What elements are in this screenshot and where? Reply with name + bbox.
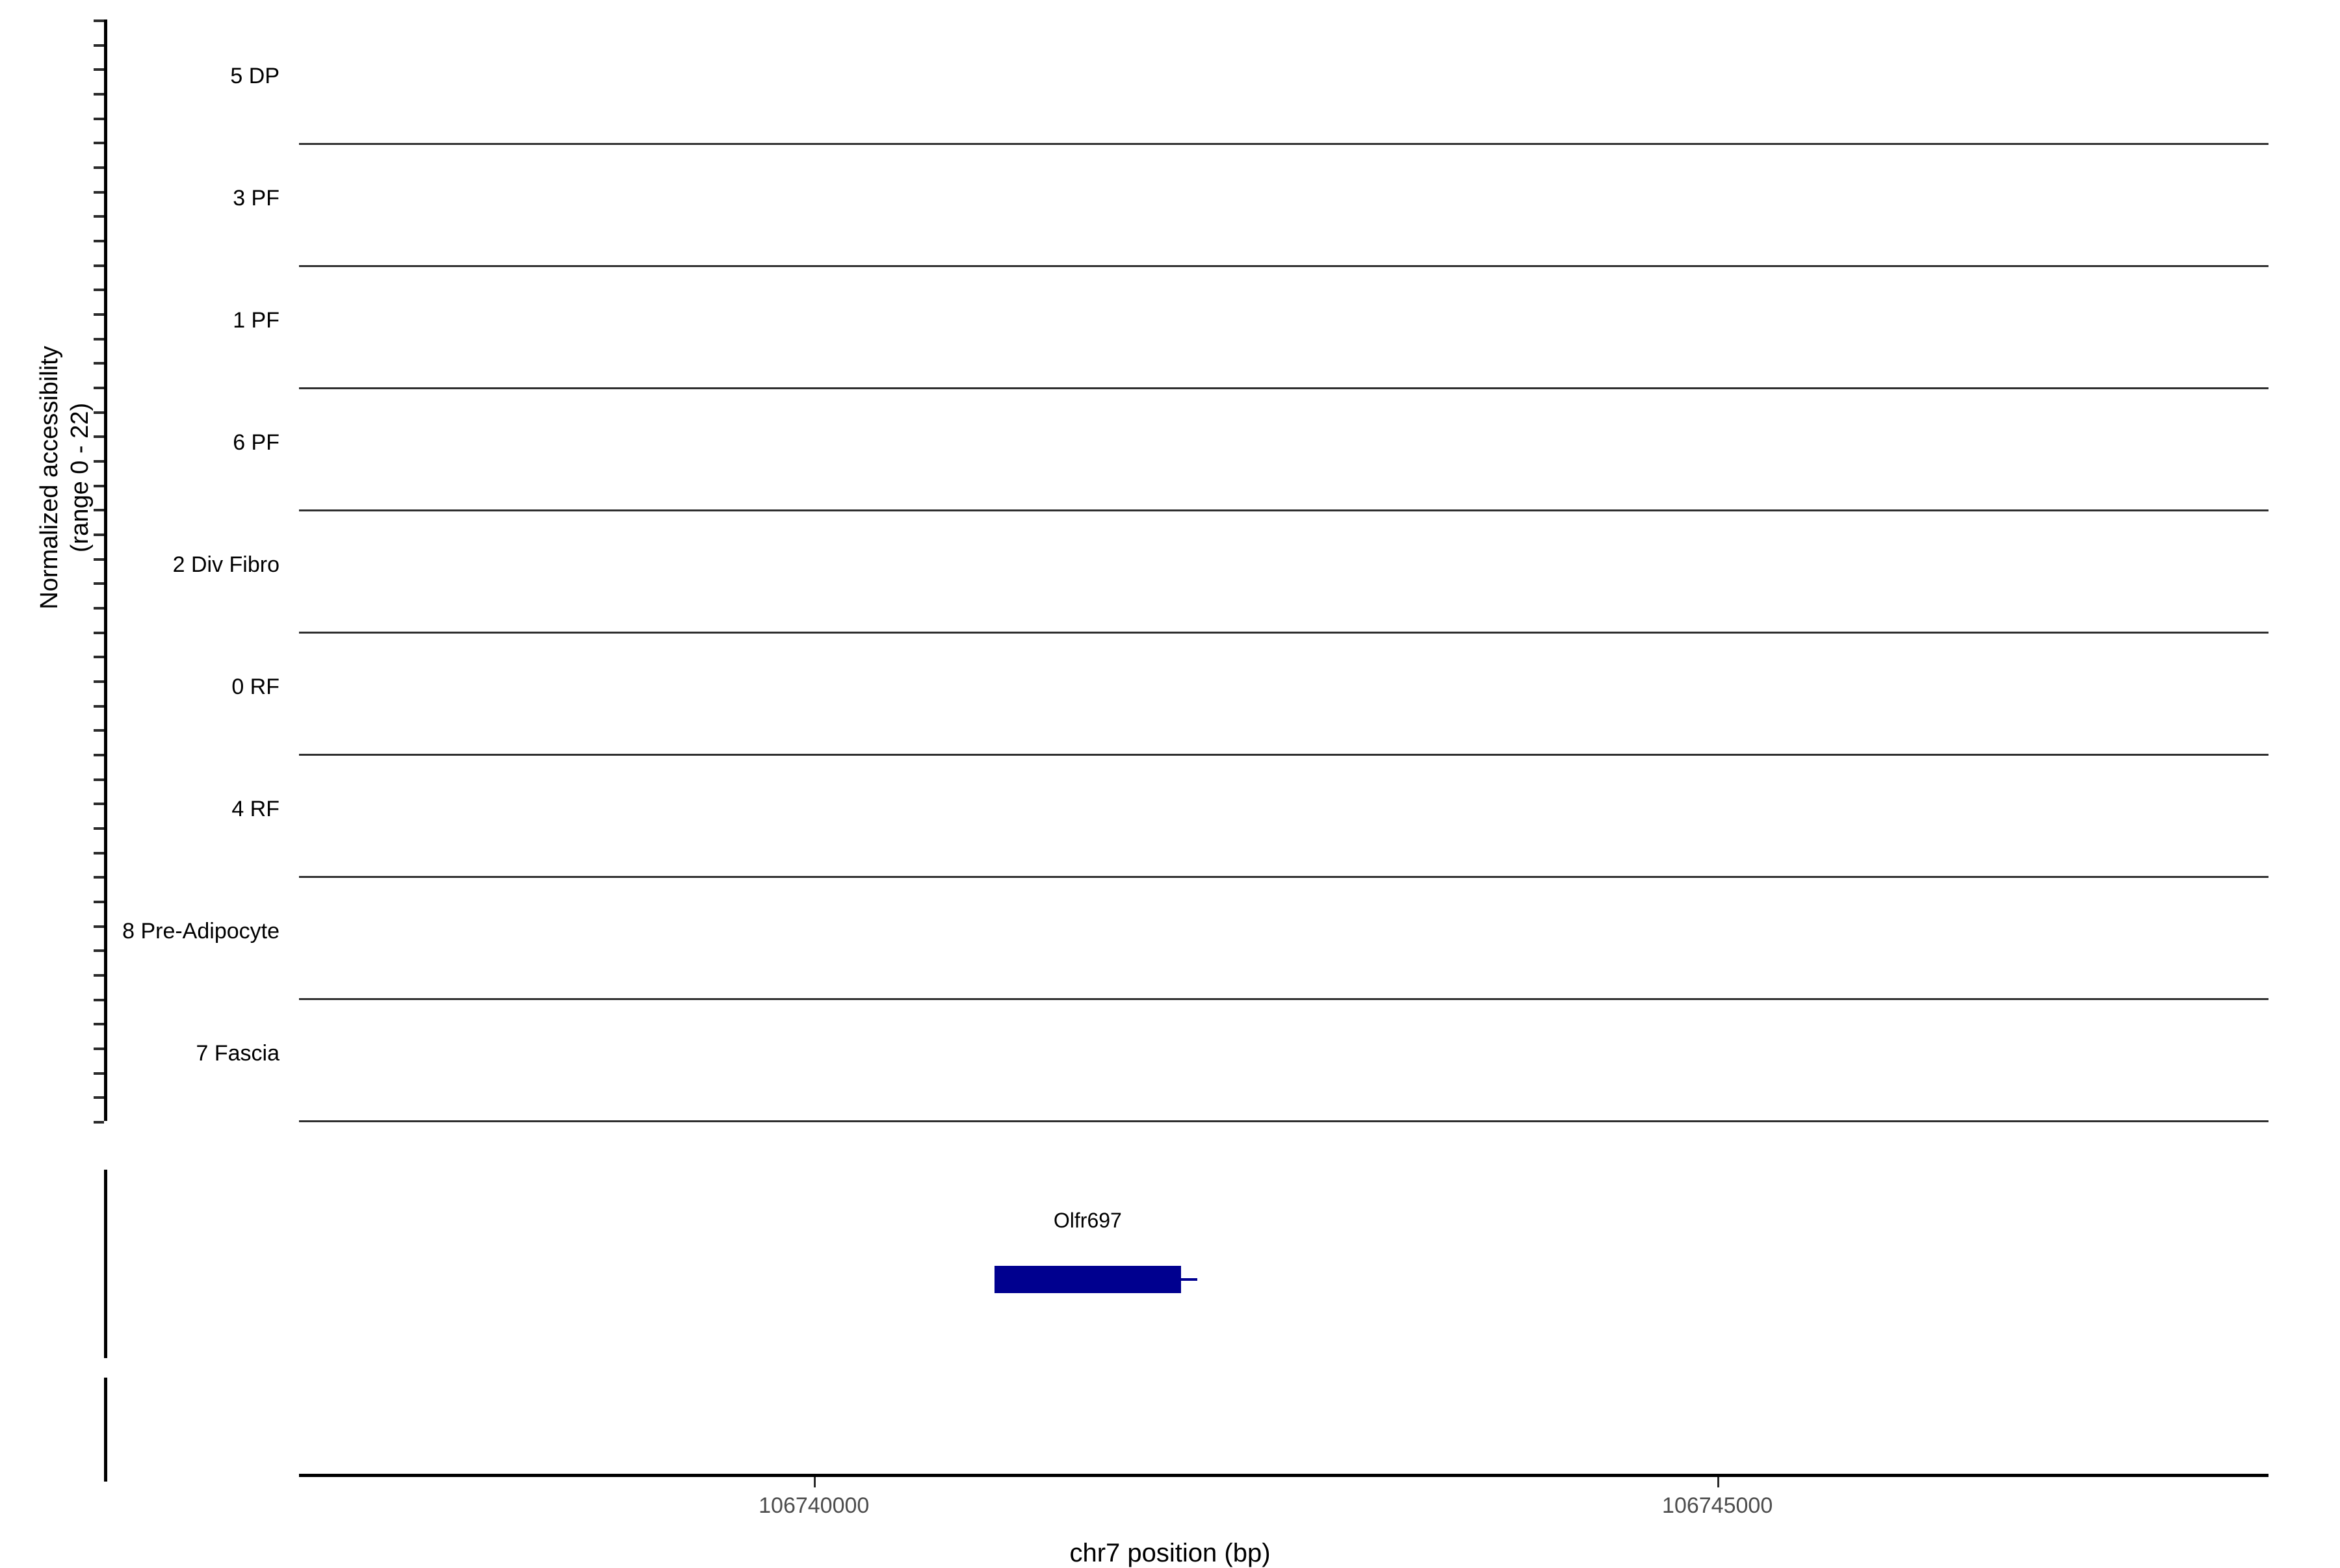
coverage-peak xyxy=(1819,602,1837,632)
coverage-peak xyxy=(357,735,369,754)
coverage-peak xyxy=(850,498,877,509)
y-axis-tick xyxy=(94,754,104,756)
coverage-peak xyxy=(1772,235,1783,265)
track-label-7-fascia: 7 Fascia xyxy=(0,1041,279,1066)
coverage-peak xyxy=(742,864,774,876)
coverage-peak xyxy=(1734,497,1764,509)
coverage-peak xyxy=(959,864,986,876)
y-axis-tick xyxy=(94,411,104,414)
coverage-peak xyxy=(579,131,626,143)
track-baseline xyxy=(299,265,2268,267)
coverage-peak xyxy=(1582,496,1611,509)
coverage-peak xyxy=(1396,231,1410,265)
y-axis-tick xyxy=(94,925,104,928)
coverage-peak xyxy=(1699,600,1715,632)
coverage-peak xyxy=(666,862,693,876)
y-axis-tick xyxy=(94,118,104,120)
y-axis-tick xyxy=(94,1096,104,1099)
coverage-peak xyxy=(1273,848,1287,876)
y-axis-tick xyxy=(94,1072,104,1075)
coverage-peak xyxy=(1992,599,2008,632)
track-baseline xyxy=(299,632,2268,634)
track-label-3-pf: 3 PF xyxy=(0,186,279,211)
y-axis-tick xyxy=(94,827,104,830)
coverage-peak xyxy=(814,359,834,387)
coverage-peak xyxy=(2010,255,2046,265)
coverage-peak xyxy=(1747,617,1779,632)
x-axis-tick xyxy=(1717,1477,1719,1487)
coverage-peak xyxy=(1789,1083,1802,1120)
coverage-peak xyxy=(1450,371,1501,387)
coverage-peak xyxy=(2043,732,2057,754)
track-baseline xyxy=(299,754,2268,756)
coverage-peak xyxy=(1768,1080,1780,1120)
coverage-peak xyxy=(1407,359,1425,387)
track-label-5-dp: 5 DP xyxy=(0,64,279,89)
y-axis-tick xyxy=(94,142,104,144)
y-axis-tick xyxy=(94,19,104,22)
coverage-peak xyxy=(702,618,736,632)
coverage-peak xyxy=(1013,619,1061,632)
y-axis-tick xyxy=(94,729,104,732)
coverage-peak xyxy=(1221,133,1248,143)
y-axis-tick xyxy=(94,289,104,291)
coverage-peak xyxy=(814,1104,841,1120)
y-axis-tick xyxy=(94,264,104,267)
track-baseline xyxy=(299,998,2268,1000)
coverage-peak xyxy=(868,1101,897,1120)
y-axis-tick xyxy=(94,387,104,389)
coverage-peak xyxy=(586,350,617,387)
y-axis-tick xyxy=(94,607,104,610)
coverage-peak xyxy=(1518,867,1546,876)
coverage-peak xyxy=(1750,249,1791,265)
y-axis-tick xyxy=(94,509,104,511)
coverage-peak xyxy=(2028,124,2060,143)
coverage-peak xyxy=(664,246,677,265)
coverage-peak xyxy=(1043,450,1065,509)
coverage-peak xyxy=(1396,864,1432,876)
coverage-peak xyxy=(1649,129,1685,143)
coverage-peak xyxy=(373,134,384,143)
track-label-4-rf: 4 RF xyxy=(0,797,279,822)
coverage-peak xyxy=(2104,376,2133,387)
coverage-peak xyxy=(1432,361,1450,387)
coverage-peak xyxy=(1909,498,1932,509)
coverage-peak xyxy=(498,357,512,387)
coverage-peak xyxy=(651,500,684,509)
coverage-peak xyxy=(2043,620,2073,632)
coverage-peak xyxy=(1149,578,1170,632)
coverage-peak xyxy=(1775,867,1802,876)
coverage-peak xyxy=(1049,946,1072,998)
coverage-peak xyxy=(1714,946,1735,998)
coverage-peak xyxy=(398,114,408,143)
coverage-peak xyxy=(1609,744,1637,754)
coverage-peak xyxy=(2122,945,2146,998)
coverage-peak xyxy=(850,945,883,998)
coverage-peak xyxy=(1923,1113,1952,1120)
coverage-peak xyxy=(1732,357,1743,387)
coverage-peak xyxy=(1110,355,1130,387)
track-baseline xyxy=(299,1120,2268,1122)
coverage-peak xyxy=(603,118,619,143)
coverage-peak xyxy=(1154,738,1186,754)
y-axis-tick xyxy=(94,803,104,805)
coverage-peak xyxy=(825,853,839,876)
coverage-peak xyxy=(1529,743,1560,754)
coverage-peak xyxy=(1217,503,1256,509)
coverage-peak xyxy=(796,621,824,632)
coverage-peak xyxy=(1708,368,1753,387)
coverage-peak xyxy=(384,613,400,632)
coverage-peak xyxy=(886,89,920,143)
y-axis-tick xyxy=(94,44,104,47)
y-axis-tick xyxy=(94,778,104,781)
coverage-peak xyxy=(1867,945,1891,998)
coverage-peak xyxy=(1988,353,2008,387)
coverage-peak xyxy=(2205,475,2216,509)
genes-axis-spine xyxy=(104,1170,107,1358)
y-axis-tick xyxy=(94,93,104,96)
track-baseline xyxy=(299,876,2268,878)
coverage-peak xyxy=(575,487,586,509)
coverage-peak xyxy=(1564,608,1580,632)
y-axis-tick xyxy=(94,435,104,438)
coverage-peak xyxy=(1094,945,1119,998)
coverage-peak xyxy=(1772,735,1786,754)
track-label-8-pre-adipocyte: 8 Pre-Adipocyte xyxy=(0,919,279,944)
coverage-peak xyxy=(2180,744,2213,754)
coverage-peak xyxy=(1840,861,1877,876)
y-axis-tick xyxy=(94,632,104,634)
y-axis-tick xyxy=(94,949,104,952)
track-baseline xyxy=(299,387,2268,389)
coverage-peak xyxy=(1761,495,1777,509)
coverage-peak xyxy=(1750,945,1773,998)
x-axis-tick-label: 106745000 xyxy=(1662,1493,1773,1519)
coverage-peak xyxy=(944,244,958,265)
coverage-peak xyxy=(637,136,658,143)
coverage-peak xyxy=(331,138,348,143)
x-axis-tick-label: 106740000 xyxy=(759,1493,869,1519)
y-axis-tick xyxy=(94,460,104,463)
coverage-peak xyxy=(623,716,639,754)
y-axis-tick xyxy=(94,338,104,341)
y-axis-tick xyxy=(94,215,104,218)
coverage-peak xyxy=(1587,865,1616,876)
coverage-peak xyxy=(1067,128,1099,143)
coverage-peak xyxy=(994,356,1015,387)
track-label-0-rf: 0 RF xyxy=(0,675,279,700)
y-axis-tick xyxy=(94,485,104,487)
coverage-peak xyxy=(510,138,521,143)
coverage-peak xyxy=(1609,374,1637,387)
y-axis-tick xyxy=(94,1121,104,1124)
coverage-peak xyxy=(1956,834,1983,876)
track-baseline xyxy=(299,143,2268,145)
y-axis-tick xyxy=(94,901,104,903)
y-axis-tick xyxy=(94,240,104,242)
coverage-peak xyxy=(926,115,954,143)
coverage-peak xyxy=(1822,914,1840,998)
coverage-peak xyxy=(1645,945,1692,998)
y-axis-tick xyxy=(94,166,104,169)
coverage-peak xyxy=(1638,253,1680,265)
coverage-peak xyxy=(1132,437,1148,509)
track-label-2-div-fibro: 2 Div Fibro xyxy=(0,552,279,578)
coverage-peak xyxy=(2106,129,2133,143)
coverage-peak xyxy=(579,251,606,265)
coverage-peak xyxy=(1071,865,1099,876)
coverage-peak xyxy=(1011,446,1027,509)
coverage-peak xyxy=(503,498,519,509)
coverage-peak xyxy=(1013,1105,1040,1120)
coverage-peak xyxy=(734,495,758,509)
y-axis-tick xyxy=(94,362,104,365)
coverage-peak xyxy=(1995,853,2028,876)
y-axis-tick xyxy=(94,558,104,561)
y-axis-tick xyxy=(94,852,104,855)
y-axis-tick xyxy=(94,974,104,977)
coverage-peak xyxy=(1078,490,1094,509)
gene-body-rect[interactable] xyxy=(994,1266,1180,1293)
coverage-peak xyxy=(872,622,899,632)
coverage-peak xyxy=(1826,742,1860,754)
coverage-peak xyxy=(1121,734,1136,754)
y-axis-tick xyxy=(94,533,104,536)
coverage-peak xyxy=(492,742,525,754)
coverage-peak xyxy=(1793,373,1830,387)
coverage-peak xyxy=(434,122,447,143)
coverage-peak xyxy=(2166,945,2189,998)
coverage-peak xyxy=(1150,96,1168,143)
coverage-peak xyxy=(698,706,721,754)
coverage-peak xyxy=(1835,107,1855,143)
y-axis-tick xyxy=(94,876,104,879)
track-label-6-pf: 6 PF xyxy=(0,430,279,456)
coverage-peak xyxy=(498,619,528,632)
coverage-peak xyxy=(1147,847,1161,876)
coverage-peak xyxy=(2118,856,2155,876)
coverage-peak xyxy=(801,725,816,754)
x-axis-tick xyxy=(814,1477,816,1487)
y-axis-tick xyxy=(94,656,104,658)
y-axis-tick xyxy=(94,705,104,708)
coverage-peak xyxy=(1107,231,1118,265)
coverage-peak xyxy=(554,373,582,387)
y-axis-tick xyxy=(94,999,104,1001)
coverage-peak xyxy=(994,251,1039,265)
coverage-peak xyxy=(1277,745,1313,754)
coverage-peak xyxy=(1401,730,1418,754)
coverage-peak xyxy=(1107,608,1118,632)
coverage-peak xyxy=(380,851,395,876)
coverage-peak xyxy=(2068,864,2095,876)
coverage-peak xyxy=(1654,745,1682,754)
coverage-peak xyxy=(718,131,755,143)
coverage-peak xyxy=(1875,235,1896,265)
coverage-peak xyxy=(1527,114,1548,143)
coverage-peak xyxy=(1439,618,1472,632)
x-axis-title: chr7 position (bp) xyxy=(0,1539,2340,1568)
coverage-peak xyxy=(1379,606,1397,632)
coverage-peak xyxy=(593,613,615,632)
x-axis-line xyxy=(299,1474,2268,1477)
coverage-peak xyxy=(1880,496,1908,509)
coverage-peak xyxy=(1059,371,1090,387)
peaks-axis-spine xyxy=(104,1378,107,1482)
y-axis-tick xyxy=(94,680,104,683)
coverage-peak xyxy=(994,738,1029,754)
coverage-peak xyxy=(1334,946,1365,998)
coverage-peak xyxy=(2100,254,2135,265)
coverage-peak xyxy=(1705,865,1735,876)
coverage-peak xyxy=(642,378,668,387)
coverage-peak xyxy=(2198,859,2226,876)
coverage-peak xyxy=(426,481,437,509)
coverage-peak xyxy=(1139,1069,1150,1120)
coverage-peak xyxy=(566,731,590,754)
coverage-peak xyxy=(1501,618,1535,632)
coverage-peak xyxy=(1410,129,1450,143)
track-baseline xyxy=(299,509,2268,511)
coverage-peak xyxy=(1865,615,1919,632)
coverage-peak xyxy=(1916,745,1945,754)
coverage-peak xyxy=(929,355,948,387)
coverage-peak xyxy=(879,852,891,876)
coverage-peak xyxy=(1916,617,1956,632)
coverage-peak xyxy=(449,731,469,754)
coverage-peak xyxy=(778,132,805,143)
coverage-peak xyxy=(1699,1103,1730,1120)
track-label-1-pf: 1 PF xyxy=(0,308,279,333)
coverage-peak xyxy=(1624,498,1647,509)
coverage-peak xyxy=(1564,253,1598,265)
coverage-peak xyxy=(2070,127,2100,143)
coverage-peak xyxy=(633,861,662,876)
coverage-peak xyxy=(1244,617,1260,632)
y-axis-tick xyxy=(94,313,104,316)
coverage-peak xyxy=(1215,586,1235,632)
genome-browser-figure: Normalized accessibility (range 0 - 22) … xyxy=(0,0,2340,1560)
coverage-peak xyxy=(378,363,396,387)
coverage-peak xyxy=(2122,618,2146,632)
y-axis-tick xyxy=(94,1047,104,1050)
y-axis-tick xyxy=(94,582,104,585)
y-axis-tick xyxy=(94,68,104,71)
coverage-peak xyxy=(1184,742,1206,754)
coverage-peak xyxy=(1999,1113,2018,1120)
coverage-peak xyxy=(1189,485,1201,509)
coverage-peak xyxy=(814,259,837,265)
coverage-peak xyxy=(2220,354,2240,387)
y-axis-tick xyxy=(94,1023,104,1025)
y-axis-tick xyxy=(94,191,104,194)
gene-name-label: Olfr697 xyxy=(1054,1209,1122,1233)
